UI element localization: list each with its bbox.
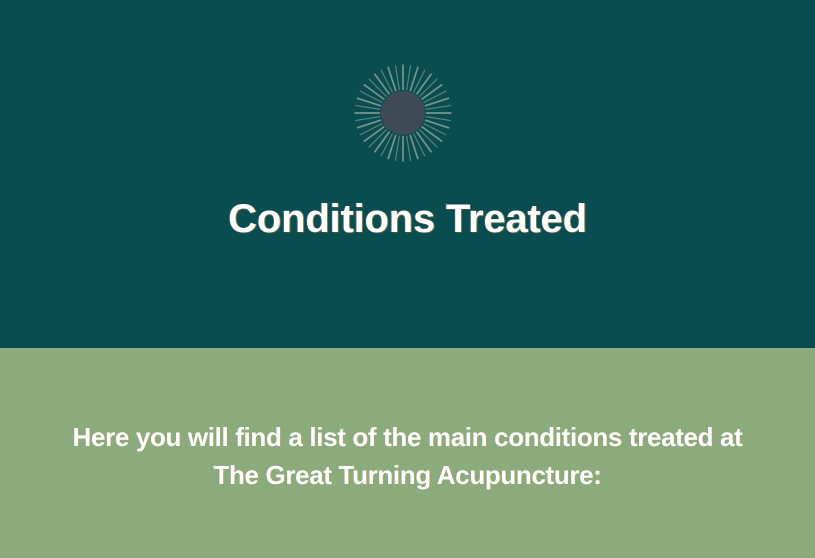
intro-section: Here you will find a list of the main co…	[0, 348, 815, 558]
sunburst-center-circle	[381, 91, 425, 135]
intro-line-1: Here you will find a list of the main co…	[50, 418, 765, 456]
page-title: Conditions Treated	[0, 193, 815, 245]
page-root: Conditions Treated Here you will find a …	[0, 0, 815, 558]
hero-section: Conditions Treated	[0, 0, 815, 348]
sunburst-icon	[343, 53, 463, 173]
intro-paragraph: Here you will find a list of the main co…	[0, 418, 815, 494]
intro-line-2: The Great Turning Acupuncture:	[50, 456, 765, 494]
